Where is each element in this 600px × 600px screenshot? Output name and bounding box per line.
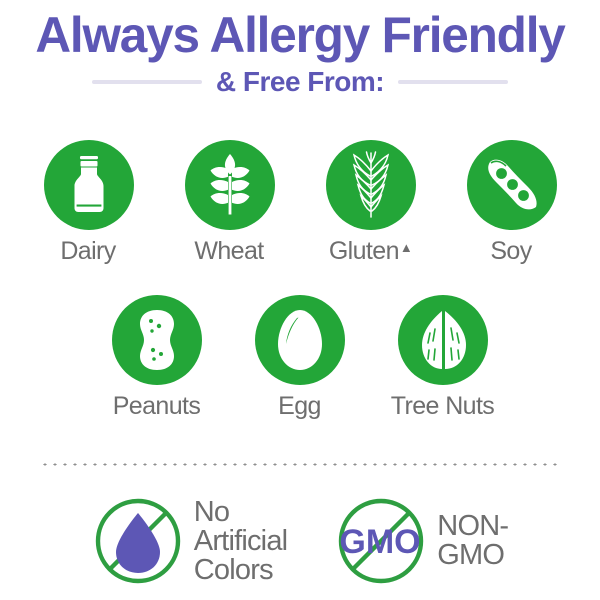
allergen-item-wheat: Wheat: [181, 140, 279, 265]
allergy-friendly-infographic: Always Allergy Friendly & Free From: Dai…: [0, 0, 600, 600]
allergen-item-dairy: Dairy: [40, 140, 138, 265]
badge-line-3: Colors: [194, 556, 288, 585]
badge-no-artificial-colors: No Artificial Colors: [92, 495, 288, 587]
allergen-label-text: Egg: [278, 392, 321, 420]
allergen-label: Tree Nuts: [391, 392, 495, 420]
certification-badges: No Artificial Colors GMO NON- GMO: [0, 495, 600, 587]
subtitle-row: & Free From:: [0, 66, 600, 98]
allergen-label: Soy: [490, 237, 532, 265]
allergen-label-text: Wheat: [194, 237, 263, 265]
allergen-item-tree-nuts: Tree Nuts: [394, 295, 492, 420]
allergen-disc: [185, 140, 275, 230]
allergen-disc: [255, 295, 345, 385]
non-gmo-icon: GMO: [335, 495, 427, 587]
badge-line-1: NON-: [437, 512, 508, 541]
allergen-label: Egg: [278, 392, 322, 420]
badge-line-1: No: [194, 498, 288, 527]
allergen-row-2: Peanuts Egg: [0, 295, 600, 420]
egg-icon: [275, 309, 325, 371]
allergen-disc: [112, 295, 202, 385]
badge-label: No Artificial Colors: [194, 498, 288, 585]
rule-left: [92, 80, 202, 84]
almond-icon: [414, 309, 472, 371]
allergen-label-text: Gluten: [329, 237, 399, 265]
allergen-disc: [398, 295, 488, 385]
badge-label: NON- GMO: [437, 512, 508, 570]
milk-bottle-icon: [63, 155, 115, 215]
allergen-label: Peanuts: [113, 392, 202, 420]
no-artificial-colors-icon: [92, 495, 184, 587]
allergen-label: Wheat: [194, 237, 264, 265]
allergen-disc: [44, 140, 134, 230]
badge-non-gmo: GMO NON- GMO: [335, 495, 508, 587]
allergen-label-text: Soy: [490, 237, 531, 265]
peanut-icon: [135, 309, 179, 371]
gmo-text: GMO: [340, 523, 421, 561]
allergen-label: Gluten ▲: [329, 237, 412, 265]
allergen-item-egg: Egg: [251, 295, 349, 420]
soybean-pod-icon: [482, 155, 542, 215]
badge-line-2: Artificial: [194, 527, 288, 556]
wheat-stalk-icon: [202, 153, 258, 217]
gluten-grain-icon: [341, 151, 401, 219]
dotted-divider: [40, 462, 560, 467]
subtitle: & Free From:: [216, 66, 384, 98]
allergen-superscript: ▲: [400, 241, 412, 254]
allergen-row-1: Dairy: [0, 140, 600, 265]
badge-line-2: GMO: [437, 541, 508, 570]
page-title: Always Allergy Friendly: [3, 8, 597, 62]
allergen-label: Dairy: [60, 237, 116, 265]
allergen-disc: [326, 140, 416, 230]
rule-right: [398, 80, 508, 84]
allergen-label-text: Dairy: [60, 237, 115, 265]
allergen-label-text: Tree Nuts: [391, 392, 494, 420]
allergen-item-soy: Soy: [463, 140, 561, 265]
allergen-disc: [467, 140, 557, 230]
allergen-label-text: Peanuts: [113, 392, 201, 420]
allergen-item-peanuts: Peanuts: [108, 295, 206, 420]
allergen-item-gluten: Gluten ▲: [322, 140, 420, 265]
